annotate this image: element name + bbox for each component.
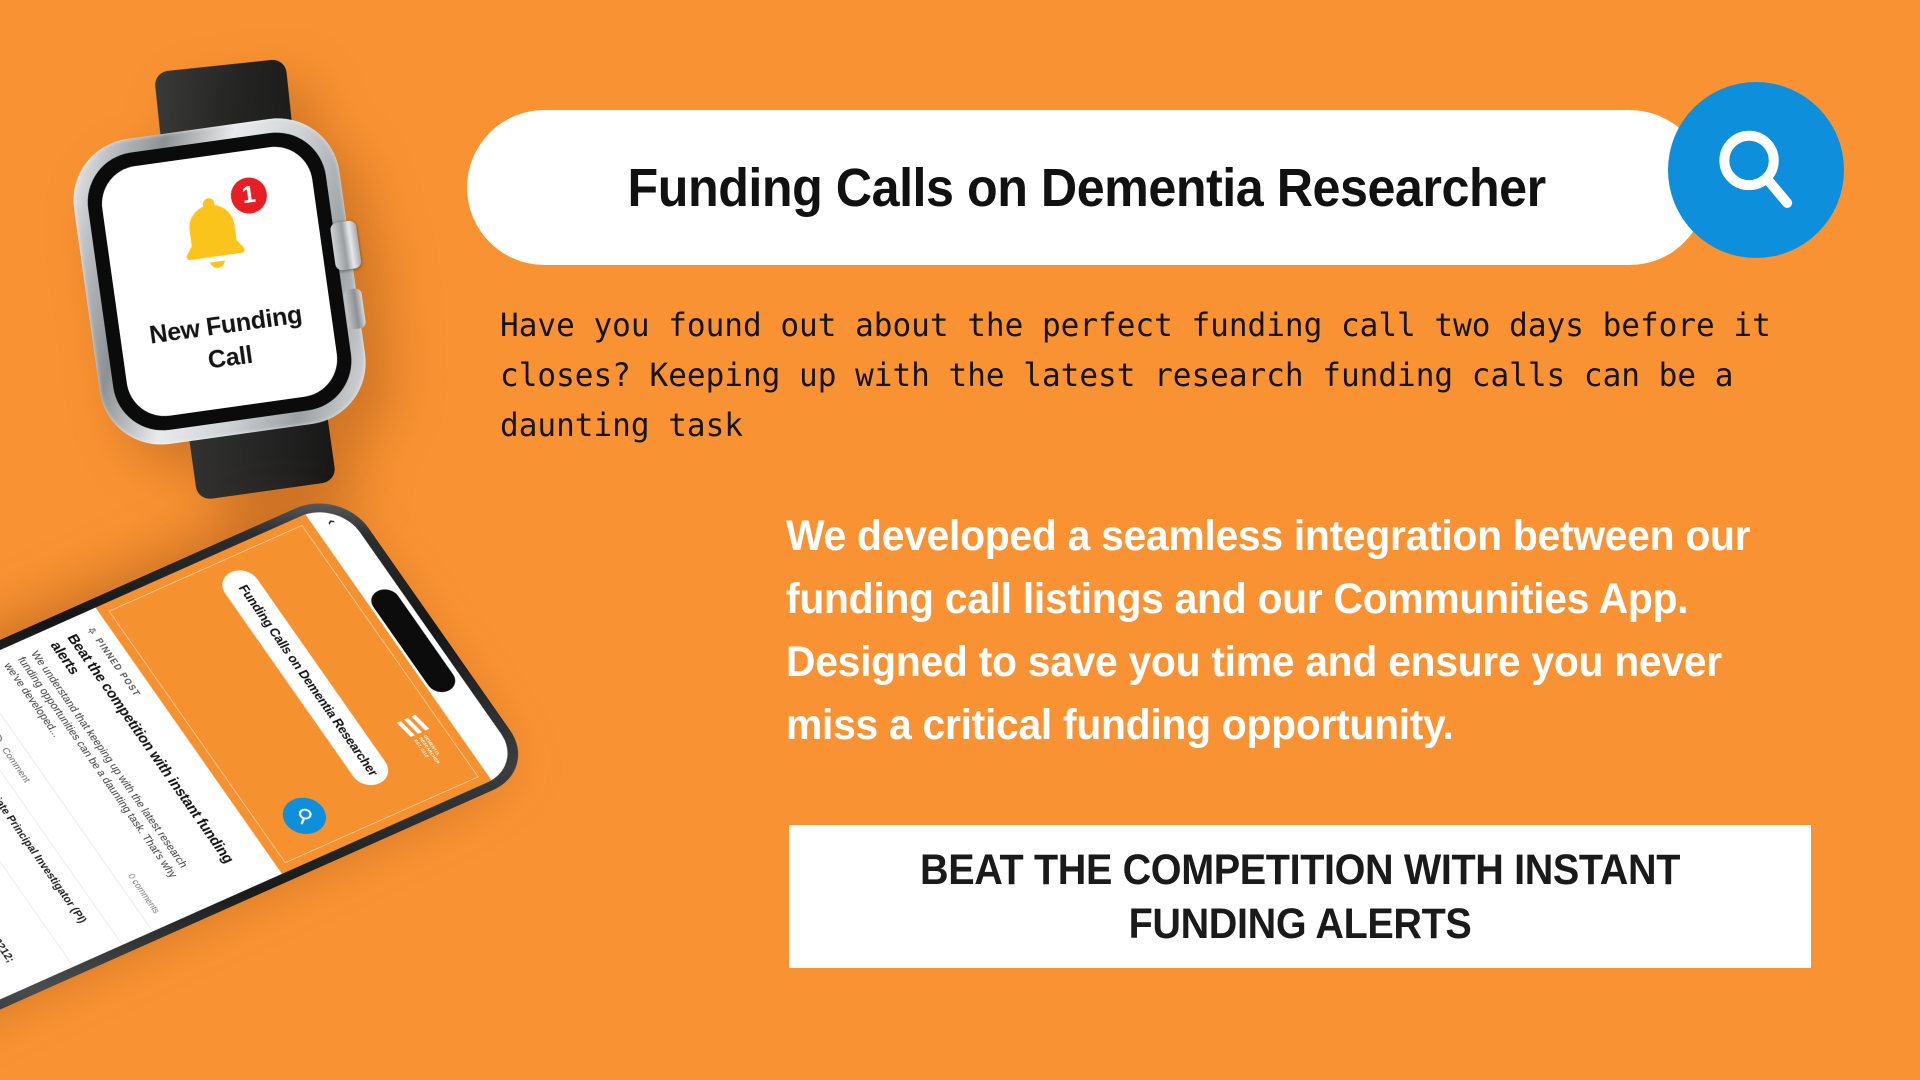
logo-text: DEMENTIA RESEARCHER EST. 2018: [413, 734, 449, 771]
comment-icon: [0, 730, 7, 746]
page-title-bar: Funding Calls on Dementia Researcher: [467, 110, 1707, 265]
smartwatch-mockup: 1 New Funding Call: [36, 55, 407, 486]
watch-bezel: 1 New Funding Call: [81, 126, 358, 437]
search-icon: [1704, 118, 1808, 222]
cta-banner: BEAT THE COMPETITION WITH INSTANT FUNDIN…: [789, 825, 1811, 968]
phone-mockup: ‹ Funding Calls DEMENTIA RESEARCHER EST.…: [0, 488, 538, 1055]
watch-digital-crown: [330, 220, 362, 271]
search-button[interactable]: [1668, 82, 1844, 258]
body-paragraph: We developed a seamless integration betw…: [786, 505, 1779, 757]
phone-search-button[interactable]: [275, 791, 335, 840]
phone-hero-title: Funding Calls on Dementia Researcher: [235, 583, 381, 778]
phone-screen: ‹ Funding Calls DEMENTIA RESEARCHER EST.…: [0, 500, 524, 1044]
page-title: Funding Calls on Dementia Researcher: [628, 157, 1546, 219]
watch-screen: 1 New Funding Call: [97, 142, 342, 421]
watch-notification-icon-wrap: 1: [161, 182, 265, 286]
phone-frame: ‹ Funding Calls DEMENTIA RESEARCHER EST.…: [0, 488, 538, 1055]
watch-case: 1 New Funding Call: [65, 110, 373, 452]
cta-text: BEAT THE COMPETITION WITH INSTANT FUNDIN…: [898, 843, 1702, 951]
cta-line-1: BEAT THE COMPETITION WITH INSTANT: [920, 846, 1680, 894]
dementia-researcher-logo: DEMENTIA RESEARCHER EST. 2018: [394, 713, 453, 774]
cta-line-2: FUNDING ALERTS: [1129, 900, 1472, 948]
intro-paragraph: Have you found out about the perfect fun…: [500, 300, 1790, 450]
pin-icon: [84, 625, 98, 637]
watch-message: New Funding Call: [130, 296, 327, 388]
